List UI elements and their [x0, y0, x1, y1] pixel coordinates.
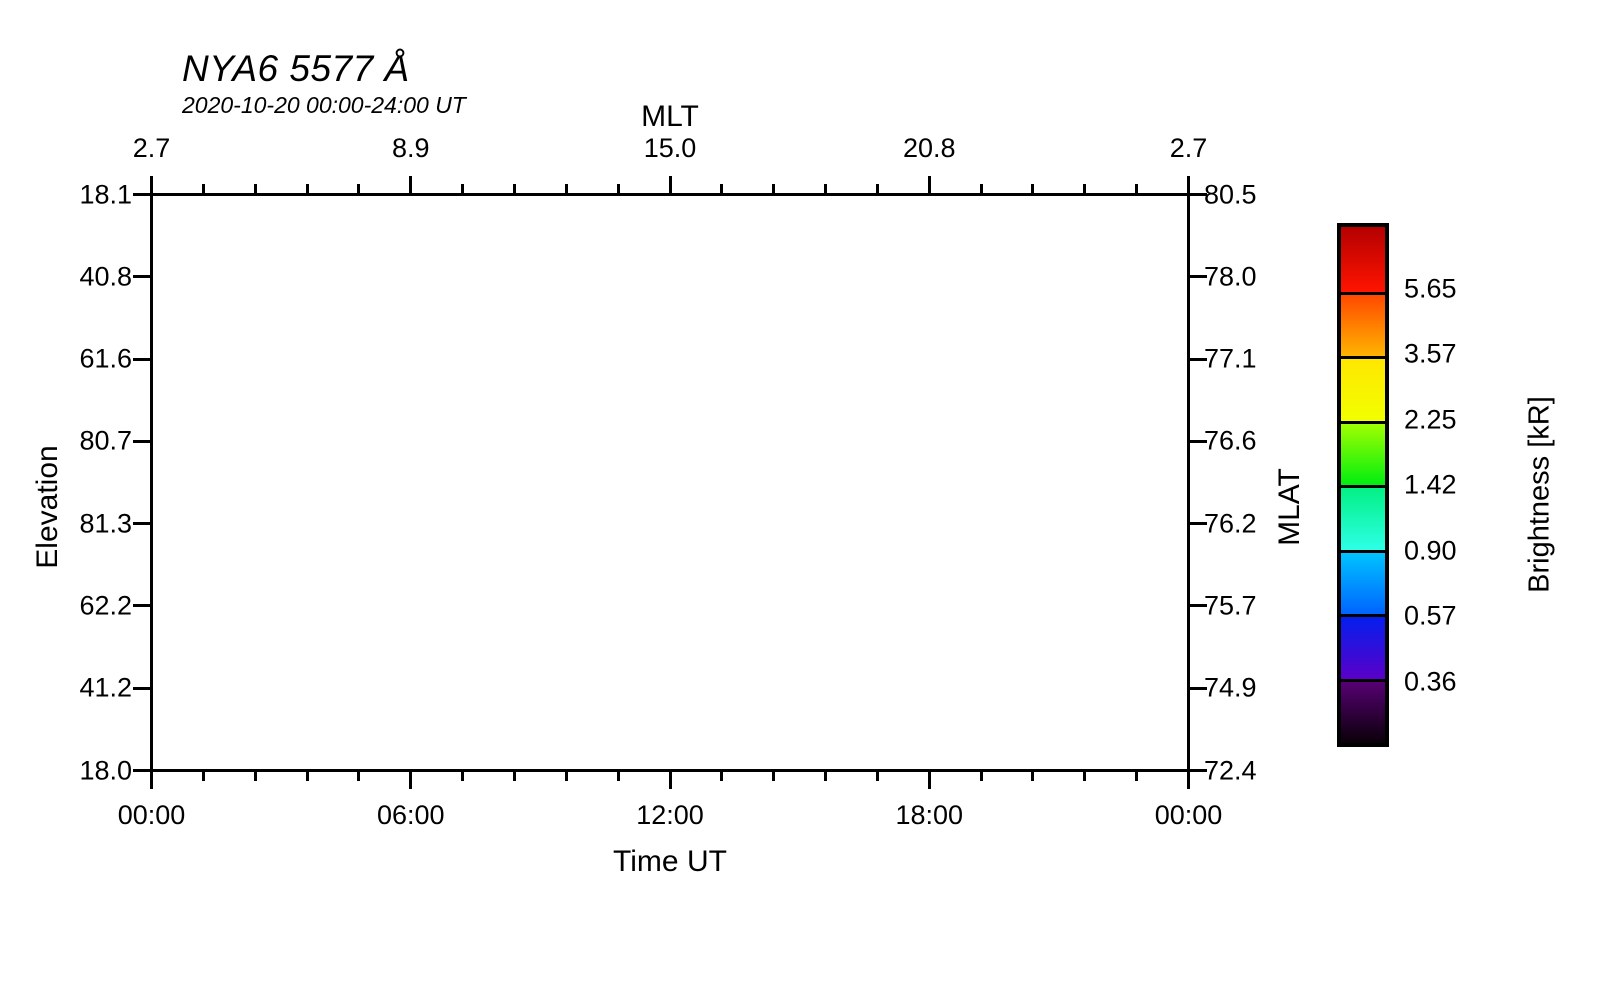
colorbar-title: Brightness [kR]	[1524, 325, 1557, 665]
colorbar-segment-4	[1341, 485, 1385, 550]
colorbar-tick-label-6: 0.36	[1404, 666, 1457, 697]
mlt-tick-minor-3-4	[1135, 184, 1138, 193]
y-tick-1	[133, 275, 150, 278]
mlt-tick-minor-2-1	[720, 184, 723, 193]
mlt-tick-minor-3-2	[1031, 184, 1034, 193]
x-tick-minor-1-2	[513, 772, 516, 781]
x-tick-minor-0-4	[357, 772, 360, 781]
x-tick-minor-3-1	[980, 772, 983, 781]
x-tick-label-0: 00:00	[118, 800, 186, 831]
x-tick-minor-2-2	[772, 772, 775, 781]
y-tick-5	[133, 604, 150, 607]
x-tick-label-4: 00:00	[1155, 800, 1223, 831]
colorbar-segment-0	[1341, 227, 1385, 292]
y-tick-label-7: 18.0	[79, 755, 132, 786]
mlt-tick-major-4	[1187, 176, 1190, 193]
mlat-tick-label-1: 78.0	[1204, 261, 1257, 292]
mlat-tick-label-0: 80.5	[1204, 179, 1257, 210]
x-tick-minor-2-1	[720, 772, 723, 781]
x-tick-minor-3-4	[1135, 772, 1138, 781]
y-tick-4	[133, 522, 150, 525]
mlt-tick-label-0: 2.7	[133, 133, 171, 164]
mlt-tick-major-0	[150, 176, 153, 193]
colorbar-segment-3	[1341, 421, 1385, 486]
mlt-tick-minor-0-3	[306, 184, 309, 193]
mlt-tick-minor-1-3	[565, 184, 568, 193]
colorbar-tick-label-0: 5.65	[1404, 273, 1457, 304]
mlt-tick-minor-2-4	[876, 184, 879, 193]
y-tick-label-1: 40.8	[79, 261, 132, 292]
y-tick-7	[133, 769, 150, 772]
x-tick-minor-0-1	[202, 772, 205, 781]
colorbar-tick-label-3: 1.42	[1404, 470, 1457, 501]
y-tick-6	[133, 687, 150, 690]
y-tick-label-2: 61.6	[79, 344, 132, 375]
colorbar-divider-2	[1341, 356, 1385, 359]
colorbar-segment-1	[1341, 292, 1385, 357]
y-axis-title: Elevation	[31, 407, 65, 607]
colorbar-segment-7	[1341, 679, 1385, 744]
colorbar-divider-1	[1341, 292, 1385, 295]
mlt-tick-minor-1-2	[513, 184, 516, 193]
mlt-tick-minor-0-2	[254, 184, 257, 193]
mlt-tick-minor-3-1	[980, 184, 983, 193]
x-tick-label-2: 12:00	[636, 800, 704, 831]
mlt-tick-label-3: 20.8	[903, 133, 956, 164]
colorbar-divider-6	[1341, 614, 1385, 617]
keogram-figure: NYA6 5577 Å 2020-10-20 00:00-24:00 UT ML…	[0, 0, 1600, 1000]
mlt-tick-minor-2-3	[824, 184, 827, 193]
y-tick-2	[133, 358, 150, 361]
mlt-axis-title: MLT	[641, 100, 699, 134]
colorbar-tick-label-1: 3.57	[1404, 339, 1457, 370]
mlt-tick-minor-0-1	[202, 184, 205, 193]
x-tick-minor-1-1	[461, 772, 464, 781]
mlt-tick-label-2: 15.0	[644, 133, 697, 164]
plot-frame	[150, 193, 1190, 772]
mlt-tick-minor-0-4	[357, 184, 360, 193]
mlat-tick-label-2: 77.1	[1204, 344, 1257, 375]
mlt-tick-major-1	[409, 176, 412, 193]
colorbar-segment-6	[1341, 614, 1385, 679]
y-tick-label-4: 81.3	[79, 508, 132, 539]
x-tick-label-3: 18:00	[895, 800, 963, 831]
y-tick-3	[133, 440, 150, 443]
x-tick-minor-0-3	[306, 772, 309, 781]
mlat-tick-label-5: 75.7	[1204, 590, 1257, 621]
mlat-axis-title: MLAT	[1273, 407, 1307, 607]
x-tick-minor-1-4	[617, 772, 620, 781]
x-tick-major-4	[1187, 772, 1190, 789]
colorbar-divider-4	[1341, 485, 1385, 488]
colorbar-divider-7	[1341, 679, 1385, 682]
colorbar-tick-label-5: 0.57	[1404, 601, 1457, 632]
x-axis-title: Time UT	[613, 845, 727, 879]
colorbar-divider-3	[1341, 421, 1385, 424]
y-tick-label-6: 41.2	[79, 673, 132, 704]
x-tick-minor-3-2	[1031, 772, 1034, 781]
colorbar-tick-label-4: 0.90	[1404, 535, 1457, 566]
mlt-tick-minor-3-3	[1083, 184, 1086, 193]
y-tick-label-0: 18.1	[79, 179, 132, 210]
mlat-tick-label-3: 76.6	[1204, 426, 1257, 457]
mlt-tick-minor-1-4	[617, 184, 620, 193]
x-tick-minor-1-3	[565, 772, 568, 781]
x-tick-minor-2-4	[876, 772, 879, 781]
page-subtitle: 2020-10-20 00:00-24:00 UT	[182, 92, 466, 119]
colorbar-tick-label-2: 2.25	[1404, 404, 1457, 435]
y-tick-label-5: 62.2	[79, 590, 132, 621]
colorbar-segment-2	[1341, 356, 1385, 421]
mlt-tick-label-1: 8.9	[392, 133, 430, 164]
x-tick-minor-0-2	[254, 772, 257, 781]
mlat-tick-label-4: 76.2	[1204, 508, 1257, 539]
x-tick-major-0	[150, 772, 153, 789]
x-tick-label-1: 06:00	[377, 800, 445, 831]
x-tick-major-2	[669, 772, 672, 789]
mlat-tick-label-7: 72.4	[1204, 755, 1257, 786]
x-tick-major-3	[928, 772, 931, 789]
mlt-tick-major-2	[669, 176, 672, 193]
x-tick-minor-2-3	[824, 772, 827, 781]
mlt-tick-minor-2-2	[772, 184, 775, 193]
mlt-tick-major-3	[928, 176, 931, 193]
x-tick-major-1	[409, 772, 412, 789]
y-tick-label-3: 80.7	[79, 426, 132, 457]
page-title: NYA6 5577 Å	[182, 48, 410, 90]
y-tick-0	[133, 193, 150, 196]
mlat-tick-label-6: 74.9	[1204, 673, 1257, 704]
colorbar-divider-5	[1341, 550, 1385, 553]
x-tick-minor-3-3	[1083, 772, 1086, 781]
mlt-tick-label-4: 2.7	[1170, 133, 1208, 164]
mlt-tick-minor-1-1	[461, 184, 464, 193]
colorbar	[1337, 223, 1389, 747]
colorbar-segment-5	[1341, 550, 1385, 615]
